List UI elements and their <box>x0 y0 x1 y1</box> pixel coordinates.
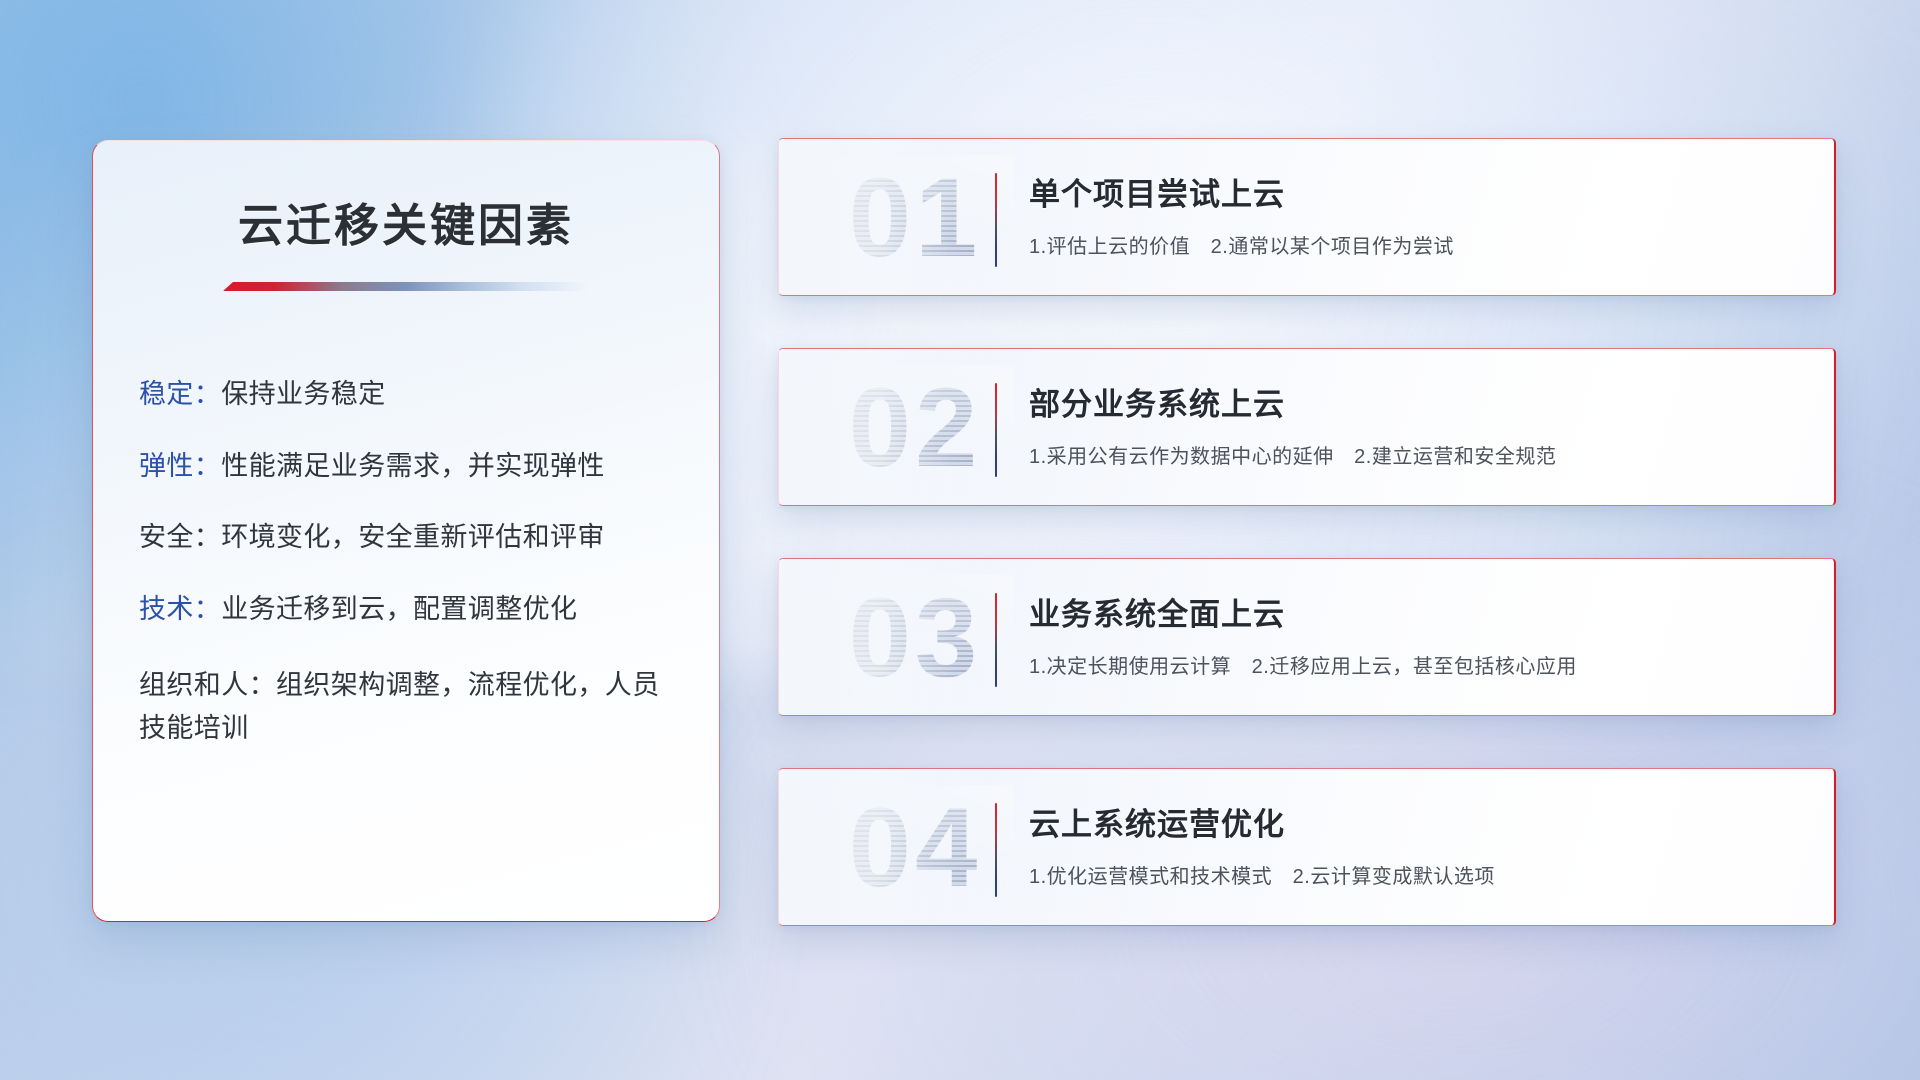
factor-text: 性能满足业务需求，并实现弹性 <box>221 451 605 481</box>
stage-card[interactable]: 02部分业务系统上云1.采用公有云作为数据中心的延伸 2.建立运营和安全规范 <box>778 348 1836 506</box>
factor-label: 弹性： <box>139 451 221 481</box>
stage-title: 云上系统运营优化 <box>1029 799 1804 844</box>
page-title: 云迁移关键因素 <box>93 189 719 254</box>
stage-title: 单个项目尝试上云 <box>1029 169 1804 214</box>
stage-divider-accent <box>995 803 997 897</box>
stage-number-watermark: 04 <box>815 785 1015 911</box>
stage-divider-accent <box>995 383 997 477</box>
stage-number-watermark: 02 <box>815 365 1015 491</box>
key-factors-list: 稳定：保持业务稳定弹性：性能满足业务需求，并实现弹性安全：环境变化，安全重新评估… <box>93 377 719 751</box>
factor-label: 组织和人： <box>139 670 276 700</box>
stage-description: 1.优化运营模式和技术模式 2.云计算变成默认选项 <box>1029 860 1804 889</box>
stage-number-watermark: 01 <box>815 155 1015 281</box>
stage-card[interactable]: 04云上系统运营优化1.优化运营模式和技术模式 2.云计算变成默认选项 <box>778 768 1836 926</box>
factor-text: 业务迁移到云，配置调整优化 <box>221 594 577 624</box>
factor-label: 稳定： <box>139 379 221 409</box>
factor-label: 技术： <box>139 594 221 624</box>
stage-card-body: 部分业务系统上云1.采用公有云作为数据中心的延伸 2.建立运营和安全规范 <box>1029 379 1804 469</box>
title-underline-accent <box>223 282 589 291</box>
factor-item: 稳定：保持业务稳定 <box>139 377 679 413</box>
stage-number-watermark: 03 <box>815 575 1015 701</box>
stage-card[interactable]: 01单个项目尝试上云1.评估上云的价值 2.通常以某个项目作为尝试 <box>778 138 1836 296</box>
factor-text: 环境变化，安全重新评估和评审 <box>221 522 605 552</box>
factor-item: 技术：业务迁移到云，配置调整优化 <box>139 592 679 628</box>
stage-divider-accent <box>995 593 997 687</box>
stage-card-body: 单个项目尝试上云1.评估上云的价值 2.通常以某个项目作为尝试 <box>1029 169 1804 259</box>
stage-card-body: 云上系统运营优化1.优化运营模式和技术模式 2.云计算变成默认选项 <box>1029 799 1804 889</box>
stage-card-body: 业务系统全面上云1.决定长期使用云计算 2.迁移应用上云，甚至包括核心应用 <box>1029 589 1804 679</box>
migration-stage-cards: 01单个项目尝试上云1.评估上云的价值 2.通常以某个项目作为尝试02部分业务系… <box>778 138 1836 978</box>
factor-label: 安全： <box>139 522 221 552</box>
stage-description: 1.决定长期使用云计算 2.迁移应用上云，甚至包括核心应用 <box>1029 650 1804 679</box>
factor-text: 保持业务稳定 <box>221 379 385 409</box>
stage-description: 1.评估上云的价值 2.通常以某个项目作为尝试 <box>1029 230 1804 259</box>
factor-item: 组织和人：组织架构调整，流程优化，人员技能培训 <box>139 664 679 751</box>
stage-card[interactable]: 03业务系统全面上云1.决定长期使用云计算 2.迁移应用上云，甚至包括核心应用 <box>778 558 1836 716</box>
stage-description: 1.采用公有云作为数据中心的延伸 2.建立运营和安全规范 <box>1029 440 1804 469</box>
stage-title: 业务系统全面上云 <box>1029 589 1804 634</box>
stage-divider-accent <box>995 173 997 267</box>
key-factors-panel: 云迁移关键因素 稳定：保持业务稳定弹性：性能满足业务需求，并实现弹性安全：环境变… <box>92 140 720 922</box>
factor-item: 弹性：性能满足业务需求，并实现弹性 <box>139 449 679 485</box>
stage-title: 部分业务系统上云 <box>1029 379 1804 424</box>
factor-item: 安全：环境变化，安全重新评估和评审 <box>139 520 679 556</box>
